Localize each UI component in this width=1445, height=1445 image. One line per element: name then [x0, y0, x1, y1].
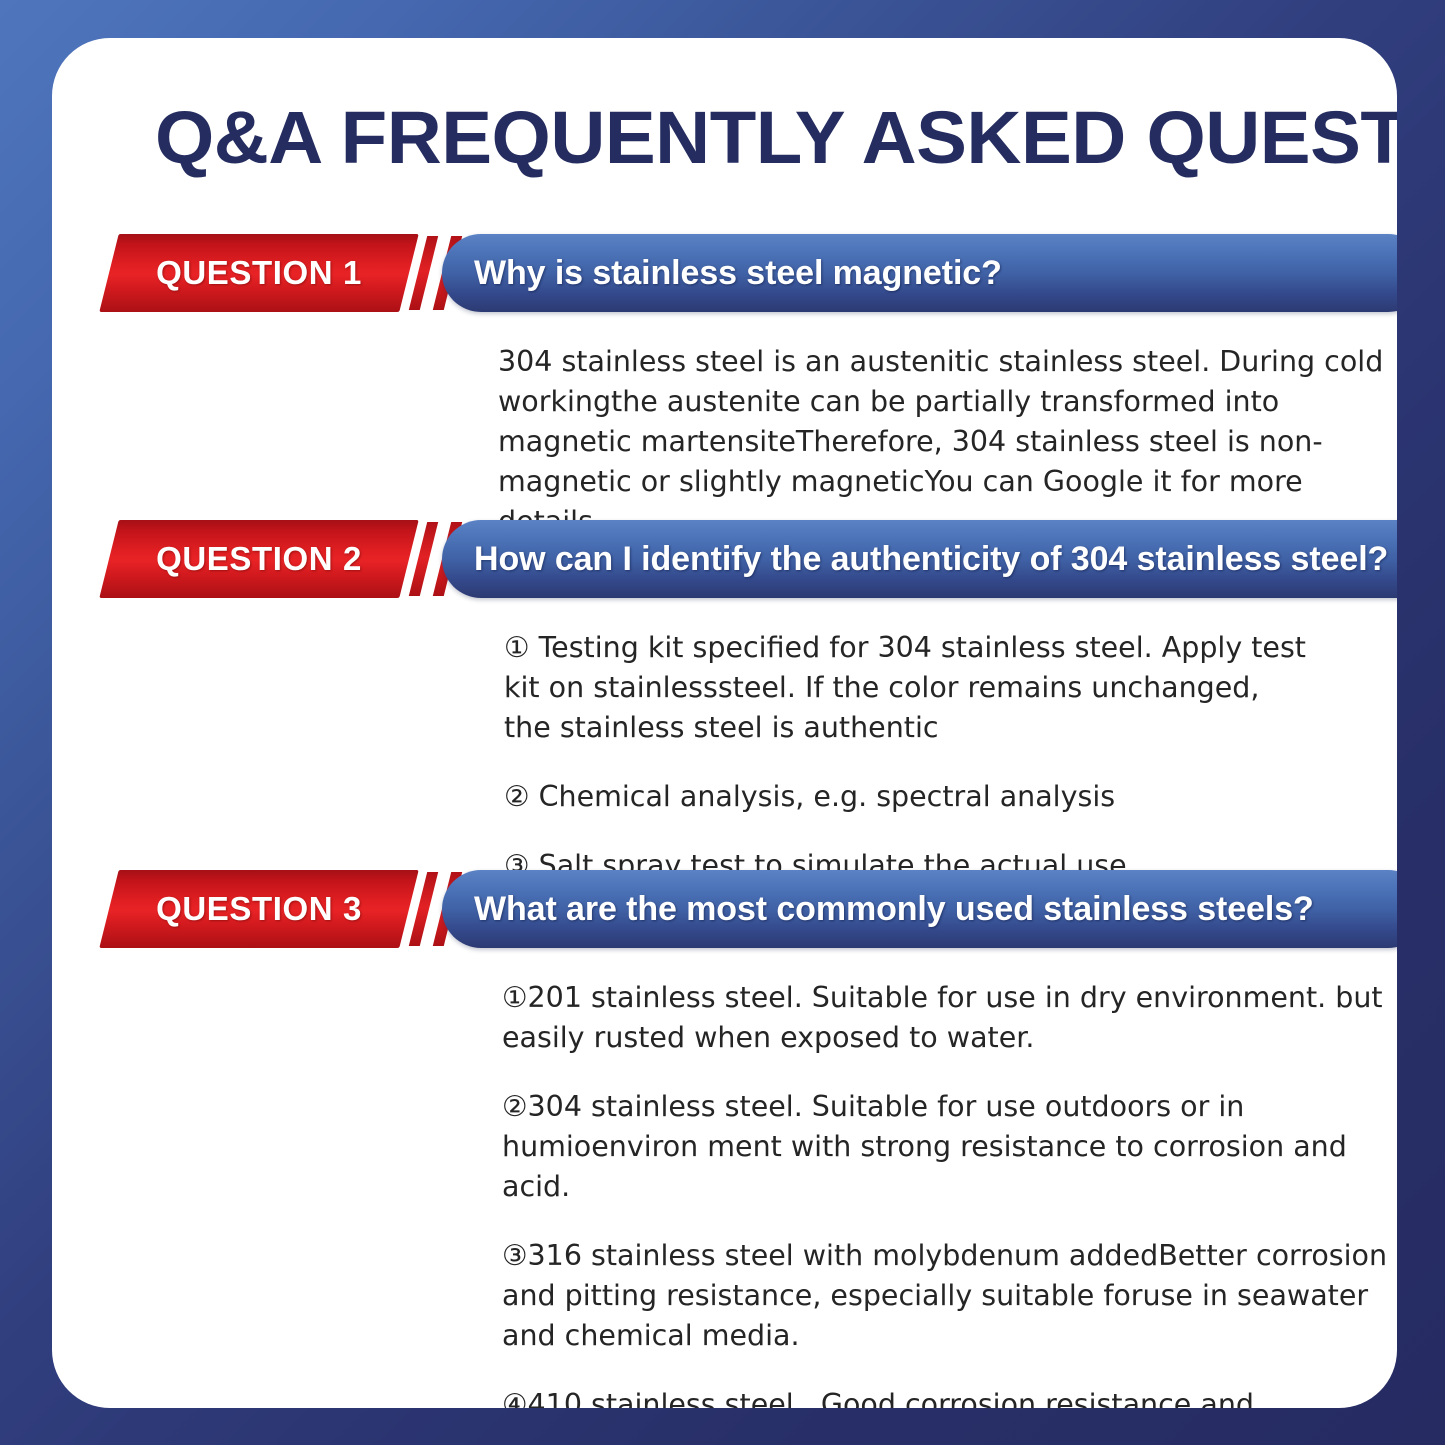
question-badge-3 — [99, 870, 418, 948]
faq-header-1: QUESTION 1 Why is stainless steel magnet… — [52, 234, 1397, 312]
faq-header-2: QUESTION 2 How can I identify the authen… — [52, 520, 1397, 598]
faq-item-2: QUESTION 2 How can I identify the authen… — [52, 520, 1397, 598]
question-badge-1 — [99, 234, 418, 312]
question-pill-2[interactable]: How can I identify the authenticity of 3… — [442, 520, 1397, 598]
answer-paragraph: ②304 stainless steel. Suitable for use o… — [502, 1087, 1397, 1207]
question-text-2: How can I identify the authenticity of 3… — [442, 540, 1397, 579]
faq-card: Q&A FREQUENTLY ASKED QUESTIONS QUESTION … — [52, 38, 1397, 1408]
answer-paragraph: ① Testing kit specified for 304 stainles… — [504, 628, 1314, 748]
answer-paragraph: ④410 stainless steel . Good corrosion re… — [502, 1385, 1397, 1408]
answer-3: ①201 stainless steel. Suitable for use i… — [502, 978, 1397, 1408]
faq-item-1: QUESTION 1 Why is stainless steel magnet… — [52, 234, 1397, 312]
faq-item-3: QUESTION 3 What are the most commonly us… — [52, 870, 1397, 948]
answer-paragraph: ② Chemical analysis, e.g. spectral analy… — [504, 777, 1314, 817]
answer-paragraph: 304 stainless steel is an austenitic sta… — [498, 342, 1388, 542]
question-text-1: Why is stainless steel magnetic? — [442, 254, 1028, 293]
question-pill-1[interactable]: Why is stainless steel magnetic? — [442, 234, 1397, 312]
answer-1: 304 stainless steel is an austenitic sta… — [498, 342, 1388, 542]
page-title: Q&A FREQUENTLY ASKED QUESTIONS — [155, 96, 1391, 180]
question-pill-3[interactable]: What are the most commonly used stainles… — [442, 870, 1397, 948]
answer-paragraph: ③316 stainless steel with molybdenum add… — [502, 1236, 1397, 1356]
faq-header-3: QUESTION 3 What are the most commonly us… — [52, 870, 1397, 948]
question-text-3: What are the most commonly used stainles… — [442, 890, 1340, 929]
answer-paragraph: ①201 stainless steel. Suitable for use i… — [502, 978, 1397, 1058]
question-badge-2 — [99, 520, 418, 598]
